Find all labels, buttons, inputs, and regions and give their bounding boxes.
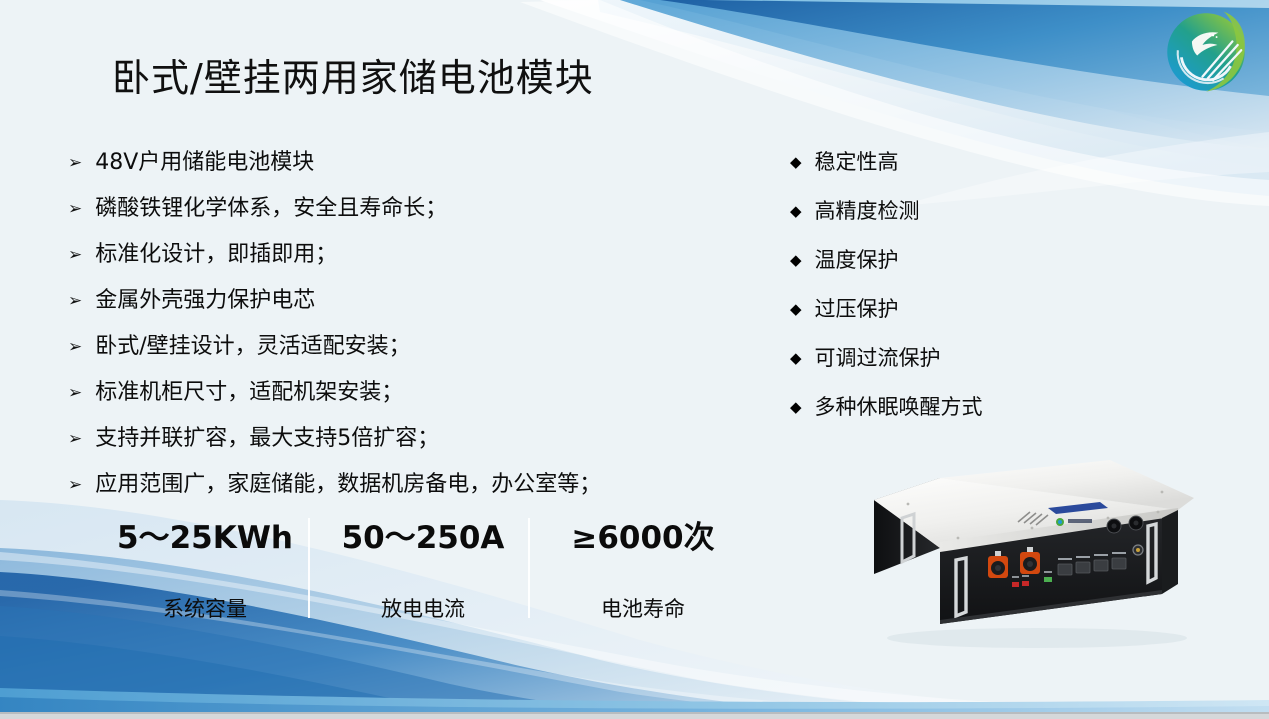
list-item-label: 高精度检测 [815,199,920,224]
slide-canvas: 卧式/壁挂两用家储电池模块 ➢ 48V户用储能电池模块 ➢ 磷酸铁锂化学体系，安… [0,0,1269,719]
stat-label: 系统容量 [100,593,310,623]
list-item-label: 可调过流保护 [815,346,941,371]
diamond-bullet-icon: ◆ [790,150,802,175]
stat-label: 放电电流 [318,593,528,623]
stat-label: 电池寿命 [538,593,748,623]
product-image-battery-module [862,452,1202,652]
list-item: ➢ 磷酸铁锂化学体系，安全且寿命长； [68,196,728,223]
page-title: 卧式/壁挂两用家储电池模块 [112,55,594,103]
diamond-bullet-icon: ◆ [790,199,802,224]
stat-value: 5～25KWh [100,512,310,557]
list-item-label: 温度保护 [815,248,899,273]
stat-value: 50～250A [318,512,528,557]
list-item: ➢ 标准机柜尺寸，适配机架安装； [68,380,728,407]
list-item: ◆ 温度保护 [790,248,1090,275]
list-item-label: 稳定性高 [815,150,899,175]
list-item-label: 标准机柜尺寸，适配机架安装； [95,380,403,406]
feature-list-left: ➢ 48V户用储能电池模块 ➢ 磷酸铁锂化学体系，安全且寿命长； ➢ 标准化设计… [68,150,728,518]
diamond-bullet-icon: ◆ [790,248,802,273]
company-logo [1162,8,1250,96]
list-item-label: 应用范围广，家庭储能，数据机房备电，办公室等； [95,472,601,498]
list-item: ➢ 48V户用储能电池模块 [68,150,728,177]
list-item: ◆ 多种休眠唤醒方式 [790,395,1090,422]
list-item-label: 卧式/壁挂设计，灵活适配安装； [95,334,410,360]
arrow-bullet-icon: ➢ [68,334,82,360]
diamond-bullet-icon: ◆ [790,395,802,420]
arrow-bullet-icon: ➢ [68,196,82,222]
list-item-label: 磷酸铁锂化学体系，安全且寿命长； [95,196,447,222]
list-item-label: 标准化设计，即插即用； [95,242,337,268]
battery-module-illustration [862,452,1202,652]
list-item: ◆ 可调过流保护 [790,346,1090,373]
arrow-bullet-icon: ➢ [68,472,82,498]
list-item-label: 支持并联扩容，最大支持5倍扩容； [95,426,439,452]
stat-item: 50～250A 放电电流 [318,512,528,623]
arrow-bullet-icon: ➢ [68,380,82,406]
list-item-label: 金属外壳强力保护电芯 [95,288,315,314]
diamond-bullet-icon: ◆ [790,297,802,322]
arrow-bullet-icon: ➢ [68,288,82,314]
list-item: ◆ 高精度检测 [790,199,1090,226]
feature-list-right: ◆ 稳定性高 ◆ 高精度检测 ◆ 温度保护 ◆ 过压保护 ◆ 可调过流保护 ◆ … [790,150,1090,444]
list-item: ➢ 标准化设计，即插即用； [68,242,728,269]
stat-divider [308,518,310,618]
stat-item: 5～25KWh 系统容量 [100,512,310,623]
list-item-label: 48V户用储能电池模块 [95,150,314,176]
arrow-bullet-icon: ➢ [68,426,82,452]
list-item: ➢ 应用范围广，家庭储能，数据机房备电，办公室等； [68,472,728,499]
list-item: ➢ 金属外壳强力保护电芯 [68,288,728,315]
spec-stats-row: 5～25KWh 系统容量 50～250A 放电电流 ≥6000次 电池寿命 [100,512,760,622]
arrow-bullet-icon: ➢ [68,242,82,268]
list-item: ➢ 支持并联扩容，最大支持5倍扩容； [68,426,728,453]
list-item-label: 过压保护 [815,297,899,322]
stat-item: ≥6000次 电池寿命 [538,512,748,623]
list-item: ➢ 卧式/壁挂设计，灵活适配安装； [68,334,728,361]
diamond-bullet-icon: ◆ [790,346,802,371]
list-item-label: 多种休眠唤醒方式 [815,395,983,420]
list-item: ◆ 过压保护 [790,297,1090,324]
leaf-bird-logo-icon [1162,8,1250,96]
stat-divider [528,518,530,618]
arrow-bullet-icon: ➢ [68,150,82,176]
list-item: ◆ 稳定性高 [790,150,1090,177]
stat-value: ≥6000次 [538,512,748,557]
